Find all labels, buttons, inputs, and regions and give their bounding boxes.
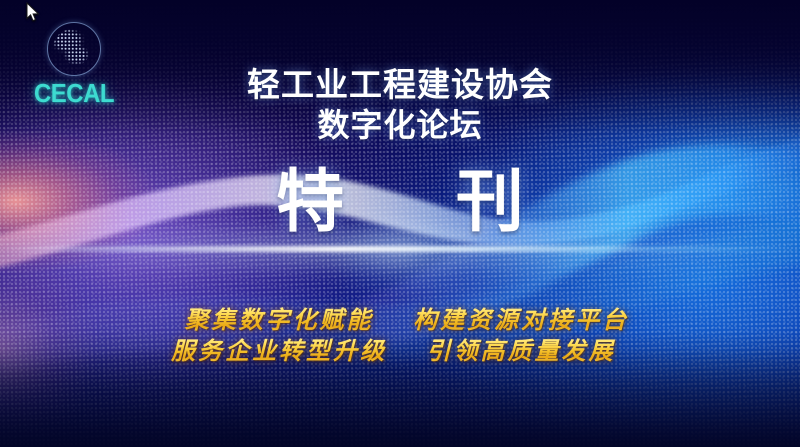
title-block: 轻工业工程建设协会 数字化论坛 xyxy=(0,64,800,146)
poster-canvas: CECAL 轻工业工程建设协会 数字化论坛 特 刊 聚集数字化赋能 服务企业转型… xyxy=(0,0,800,447)
headline-special-issue: 特 刊 xyxy=(0,164,800,242)
title-line-1: 轻工业工程建设协会 xyxy=(0,64,800,105)
title-line-2: 数字化论坛 xyxy=(0,105,800,146)
slogan-column-left: 聚集数字化赋能 服务企业转型升级 xyxy=(171,304,387,366)
slogan-right-line-1: 构建资源对接平台 xyxy=(413,304,629,335)
globe-dots xyxy=(53,29,91,67)
slogan-left-line-2: 服务企业转型升级 xyxy=(171,335,387,366)
slogan-left-line-1: 聚集数字化赋能 xyxy=(171,304,387,335)
slogan-block: 聚集数字化赋能 服务企业转型升级 构建资源对接平台 引领高质量发展 xyxy=(0,304,800,366)
slogan-column-right: 构建资源对接平台 引领高质量发展 xyxy=(413,304,629,366)
slogan-right-line-2: 引领高质量发展 xyxy=(413,335,629,366)
